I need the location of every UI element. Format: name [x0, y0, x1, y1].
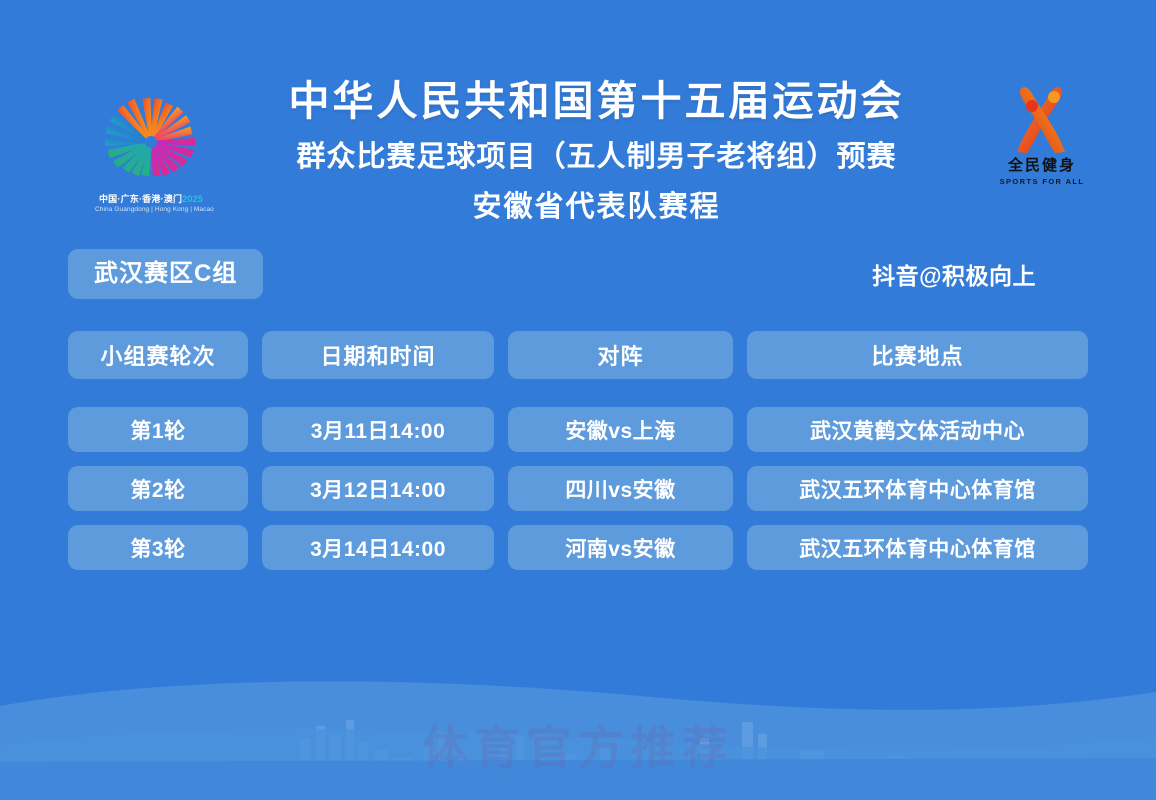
poster-header: 中国·广东·香港·澳门2025 China Guangdong | Hong K… [0, 0, 1156, 227]
cell-match: 河南vs安徽 [508, 525, 733, 570]
table-row: 第1轮 3月11日14:00 安徽vs上海 武汉黄鹤文体活动中心 [68, 407, 1088, 452]
emblem-caption-cn: 中国·广东·香港·澳门2025 [95, 192, 207, 205]
column-header-venue: 比赛地点 [747, 331, 1088, 379]
games-emblem: 中国·广东·香港·澳门2025 China Guangdong | Hong K… [95, 72, 207, 213]
credit-label: 抖音@积极向上 [872, 257, 1036, 291]
cell-datetime: 3月14日14:00 [262, 525, 494, 570]
table-row: 第2轮 3月12日14:00 四川vs安徽 武汉五环体育中心体育馆 [68, 466, 1088, 511]
group-badge: 武汉赛区C组 [68, 249, 263, 300]
page-subtitle: 群众比赛足球项目（五人制男子老将组）预赛 [217, 139, 976, 177]
cell-match: 安徽vs上海 [508, 407, 733, 452]
cell-round: 第3轮 [68, 525, 248, 570]
title-block: 中华人民共和国第十五届运动会 群众比赛足球项目（五人制男子老将组）预赛 安徽省代… [217, 72, 976, 227]
column-header-datetime: 日期和时间 [262, 331, 494, 379]
cell-datetime: 3月12日14:00 [262, 466, 494, 511]
sfa-caption-cn: 全民健身 [986, 154, 1098, 175]
column-header-round: 小组赛轮次 [68, 331, 248, 379]
cell-venue: 武汉五环体育中心体育馆 [747, 466, 1088, 511]
cell-round: 第1轮 [68, 407, 248, 452]
sports-for-all-emblem: 全民健身 SPORTS FOR ALL [986, 72, 1098, 186]
fireworks-burst-icon [99, 86, 203, 190]
schedule-poster: 中国·广东·香港·澳门2025 China Guangdong | Hong K… [0, 0, 1156, 800]
meta-row: 武汉赛区C组 抖音@积极向上 [0, 227, 1156, 300]
cell-datetime: 3月11日14:00 [262, 407, 494, 452]
column-header-match: 对阵 [508, 331, 733, 379]
cell-round: 第2轮 [68, 466, 248, 511]
cell-match: 四川vs安徽 [508, 466, 733, 511]
emblem-caption-en: China Guangdong | Hong Kong | Macao [95, 206, 207, 213]
schedule-table: 小组赛轮次 日期和时间 对阵 比赛地点 第1轮 3月11日14:00 安徽vs上… [0, 299, 1156, 570]
table-row: 第3轮 3月14日14:00 河南vs安徽 武汉五环体育中心体育馆 [68, 525, 1088, 570]
cell-venue: 武汉黄鹤文体活动中心 [747, 407, 1088, 452]
cell-venue: 武汉五环体育中心体育馆 [747, 525, 1088, 570]
page-title: 中华人民共和国第十五届运动会 [217, 76, 976, 127]
sfa-caption-en: SPORTS FOR ALL [986, 177, 1098, 186]
sports-for-all-figures-icon [999, 80, 1085, 156]
page-subtitle-team: 安徽省代表队赛程 [217, 189, 976, 227]
table-header-row: 小组赛轮次 日期和时间 对阵 比赛地点 [68, 331, 1088, 379]
